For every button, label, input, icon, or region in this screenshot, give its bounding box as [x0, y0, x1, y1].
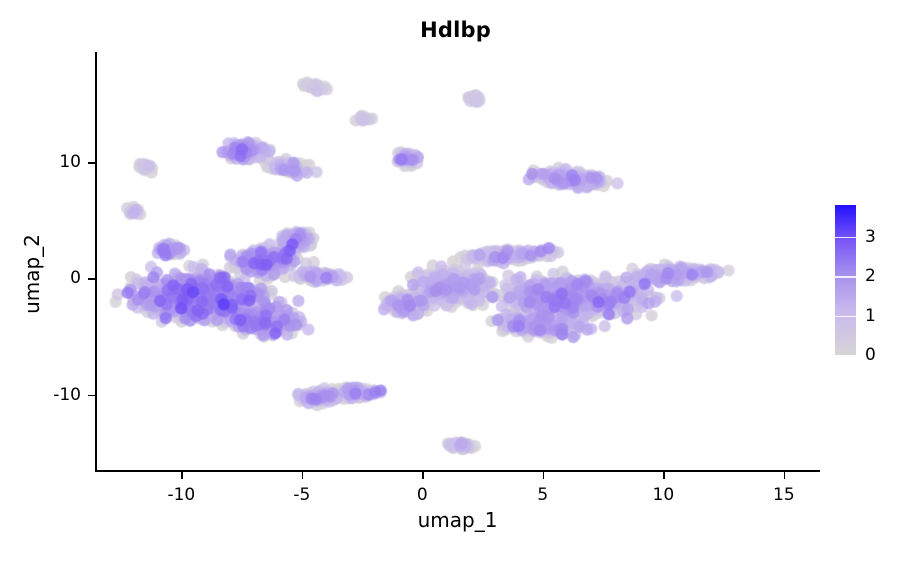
y-tick-label: -10: [53, 385, 81, 405]
scatter-canvas: [97, 52, 820, 470]
page-title: Hdlbp: [0, 18, 911, 42]
y-tick: [88, 162, 95, 164]
colorbar-gradient: [835, 205, 856, 355]
x-axis-label: umap_1: [95, 508, 820, 532]
y-tick-label: 10: [59, 152, 81, 172]
x-tick: [784, 472, 786, 479]
colorbar-tick: [835, 316, 856, 318]
y-tick-label: 0: [70, 268, 81, 288]
colorbar-tick-label: 2: [865, 266, 876, 286]
x-tick-label: 10: [653, 485, 675, 505]
x-tick: [302, 472, 304, 479]
plot-axes: -10-5051015 -10010: [95, 52, 820, 472]
colorbar-tick-label: 1: [865, 306, 876, 326]
x-tick-label: -5: [293, 485, 310, 505]
colorbar: 0123: [835, 205, 905, 355]
x-tick-label: 15: [773, 485, 795, 505]
x-tick: [543, 472, 545, 479]
colorbar-tick: [835, 237, 856, 239]
colorbar-tick-label: 3: [865, 227, 876, 247]
y-tick: [88, 278, 95, 280]
x-tick: [181, 472, 183, 479]
x-tick: [422, 472, 424, 479]
x-tick: [663, 472, 665, 479]
y-tick: [88, 395, 95, 397]
x-axis-spine: [95, 470, 820, 472]
colorbar-tick-label: 0: [865, 345, 876, 365]
colorbar-tick: [835, 276, 856, 278]
y-axis-label: umap_2: [20, 234, 44, 314]
x-tick-label: 0: [417, 485, 428, 505]
umap-feature-plot: Hdlbp -10-5051015 -10010 umap_1 umap_2 0…: [0, 0, 911, 562]
x-tick-label: 5: [537, 485, 548, 505]
x-tick-label: -10: [167, 485, 195, 505]
